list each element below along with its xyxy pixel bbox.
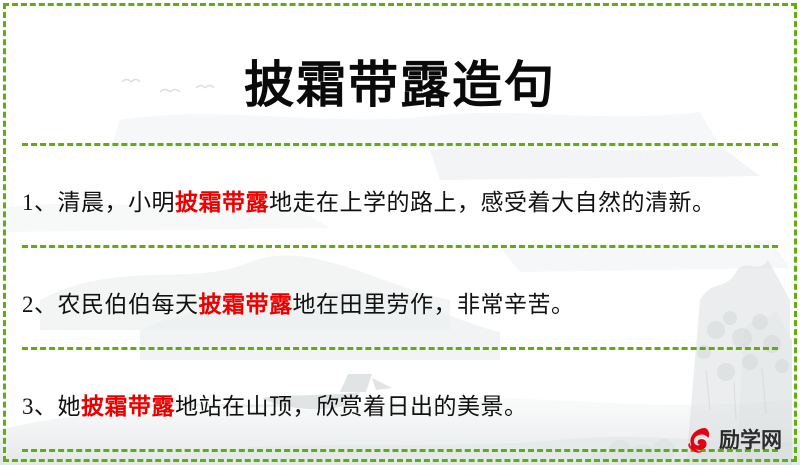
- sentence-item-3: 3、她披霜带露地站在山顶，欣赏着日出的美景。: [22, 373, 778, 426]
- divider-4: [22, 449, 778, 452]
- divider-2: [22, 245, 778, 248]
- divider-1: [22, 143, 778, 146]
- worksheet-page: 披霜带露造句 1、清晨，小明披霜带露地走在上学的路上，感受着大自然的清新。 2、…: [0, 0, 800, 465]
- sentence-1-index: 1、: [22, 190, 58, 215]
- sentence-3-before: 她: [58, 394, 82, 419]
- flame-swirl-icon: [684, 425, 714, 455]
- sentence-1-before: 清晨，小明: [58, 190, 176, 215]
- sentence-2-highlight: 披霜带露: [199, 292, 293, 317]
- sentence-2-after: 地在田里劳作，非常辛苦。: [293, 292, 575, 317]
- page-title: 披霜带露造句: [22, 34, 778, 110]
- divider-3: [22, 347, 778, 350]
- sentence-2-index: 2、: [22, 292, 58, 317]
- sentence-3-highlight: 披霜带露: [81, 394, 175, 419]
- sentence-1-highlight: 披霜带露: [175, 190, 269, 215]
- sentence-item-2: 2、农民伯伯每天披霜带露地在田里劳作，非常辛苦。: [22, 271, 778, 324]
- sentence-1-after: 地走在上学的路上，感受着大自然的清新。: [269, 190, 716, 215]
- site-logo-text: 励学网: [719, 430, 782, 451]
- sentence-item-1: 1、清晨，小明披霜带露地走在上学的路上，感受着大自然的清新。: [22, 169, 778, 222]
- content-area: 披霜带露造句 1、清晨，小明披霜带露地走在上学的路上，感受着大自然的清新。 2、…: [0, 34, 800, 465]
- site-logo[interactable]: 励学网: [684, 425, 782, 455]
- sentence-3-after: 地站在山顶，欣赏着日出的美景。: [175, 394, 528, 419]
- sentence-2-before: 农民伯伯每天: [58, 292, 199, 317]
- sentence-3-index: 3、: [22, 394, 58, 419]
